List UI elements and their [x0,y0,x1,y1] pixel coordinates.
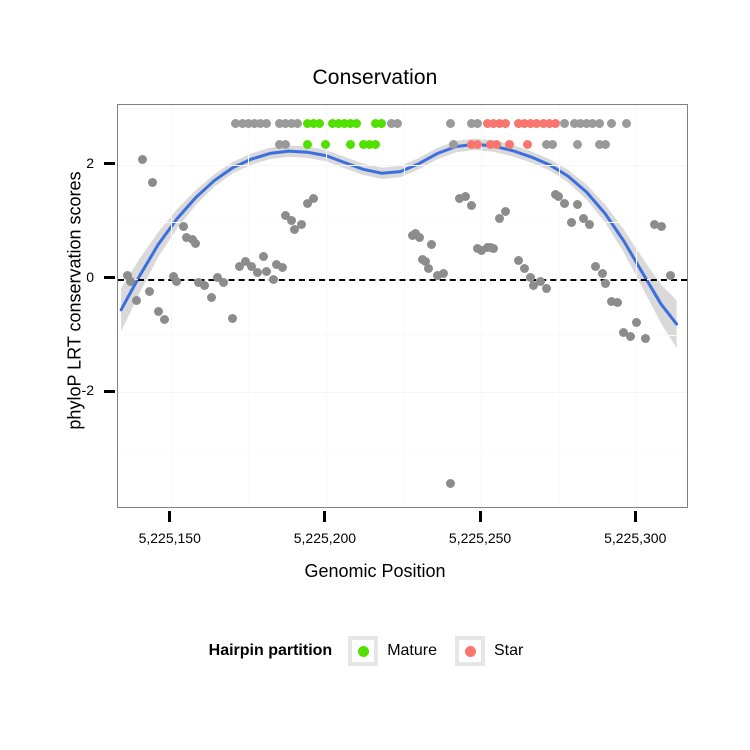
data-point [520,264,529,273]
loess-trend-line [121,144,677,324]
gridline-y-major [118,165,687,166]
gridline-x-major [171,105,172,507]
data-point [207,293,216,302]
annotation-mark-other [281,140,290,149]
annotation-mark-other [548,140,557,149]
data-point [126,277,135,286]
legend: Hairpin partition MatureStar [0,636,750,666]
y-axis-tick [104,390,115,393]
x-axis-tick-label: 5,225,200 [265,530,385,546]
annotation-mark-mature [321,140,330,149]
x-axis-tick-label: 5,225,150 [110,530,230,546]
data-point [172,277,181,286]
data-point [287,216,296,225]
plot-area [118,105,687,507]
annotation-mark-other [573,140,582,149]
annotation-mark-other [607,119,616,128]
x-axis-tick-label: 5,225,300 [575,530,695,546]
x-axis-tick [479,511,482,522]
data-point [179,222,188,231]
data-point [514,256,523,265]
gridline-x-major [326,105,327,507]
gridline-x-minor [404,105,405,507]
gridline-x-major [636,105,637,507]
data-point [253,268,262,277]
data-point [601,279,610,288]
annotation-mark-mature [303,140,312,149]
y-axis-tick-label: -2 [60,382,94,398]
annotation-mark-mature [352,119,361,128]
data-point [259,252,268,261]
loess-confidence-ribbon [121,139,677,348]
data-point [138,155,147,164]
data-point [501,207,510,216]
y-axis-tick-label: 2 [60,155,94,171]
data-point [560,199,569,208]
data-point [145,287,154,296]
annotation-mark-other [560,119,569,128]
data-point [598,269,607,278]
x-axis-tick [323,511,326,522]
x-axis-tick-label: 5,225,250 [420,530,540,546]
data-point [424,264,433,273]
annotation-mark-mature [315,119,324,128]
legend-label-mature: Mature [387,642,437,660]
annotation-mark-star [523,140,532,149]
data-point [219,278,228,287]
annotation-mark-other [262,119,271,128]
legend-items: MatureStar [348,636,541,666]
chart-title: Conservation [0,66,750,90]
y-axis-tick [104,276,115,279]
data-point [446,479,455,488]
gridline-y-major [118,392,687,393]
data-point [309,194,318,203]
annotation-mark-other [293,119,302,128]
data-point [467,201,476,210]
annotation-mark-mature [371,140,380,149]
annotation-mark-star [492,140,501,149]
annotation-mark-star [505,140,514,149]
annotation-mark-other [446,119,455,128]
legend-label-star: Star [494,642,523,660]
data-point [439,269,448,278]
data-point [160,315,169,324]
data-point [632,318,641,327]
data-point [297,220,306,229]
chart-root: Conservation phyloP LRT conservation sco… [0,0,750,750]
data-point [191,239,200,248]
gridline-x-minor [559,105,560,507]
gridline-y-minor [118,335,687,336]
data-point [567,218,576,227]
data-point [657,222,666,231]
annotation-mark-mature [377,119,386,128]
gridline-y-minor [118,449,687,450]
data-point [489,244,498,253]
legend-title: Hairpin partition [209,642,333,660]
gridline-y-minor [118,108,687,109]
data-point [626,332,635,341]
data-point [415,233,424,242]
y-axis-title: phyloP LRT conservation scores [65,91,86,511]
data-point [641,334,650,343]
plot-panel [117,104,688,508]
data-point [427,240,436,249]
data-point [228,314,237,323]
data-point [148,178,157,187]
x-axis-title: Genomic Position [0,561,750,582]
x-axis-tick [634,511,637,522]
annotation-mark-star [501,119,510,128]
data-point [200,281,209,290]
gridline-y-minor [118,222,687,223]
legend-dot-icon [358,646,369,657]
legend-key-mature[interactable] [348,636,378,666]
gridline-x-major [481,105,482,507]
x-axis-tick [168,511,171,522]
y-axis-tick-label: 0 [60,269,94,285]
data-point [573,200,582,209]
data-point [585,220,594,229]
data-point [542,284,551,293]
annotation-mark-other [622,119,631,128]
legend-dot-icon [465,646,476,657]
data-point [278,263,287,272]
data-point [613,298,622,307]
annotation-mark-mature [346,140,355,149]
annotation-mark-other [449,140,458,149]
data-point [461,192,470,201]
annotation-mark-other [393,119,402,128]
data-point [132,296,141,305]
data-point [269,275,278,284]
legend-key-star[interactable] [455,636,485,666]
gridline-x-minor [248,105,249,507]
annotation-mark-other [601,140,610,149]
annotation-mark-other [595,119,604,128]
y-axis-tick [104,162,115,165]
